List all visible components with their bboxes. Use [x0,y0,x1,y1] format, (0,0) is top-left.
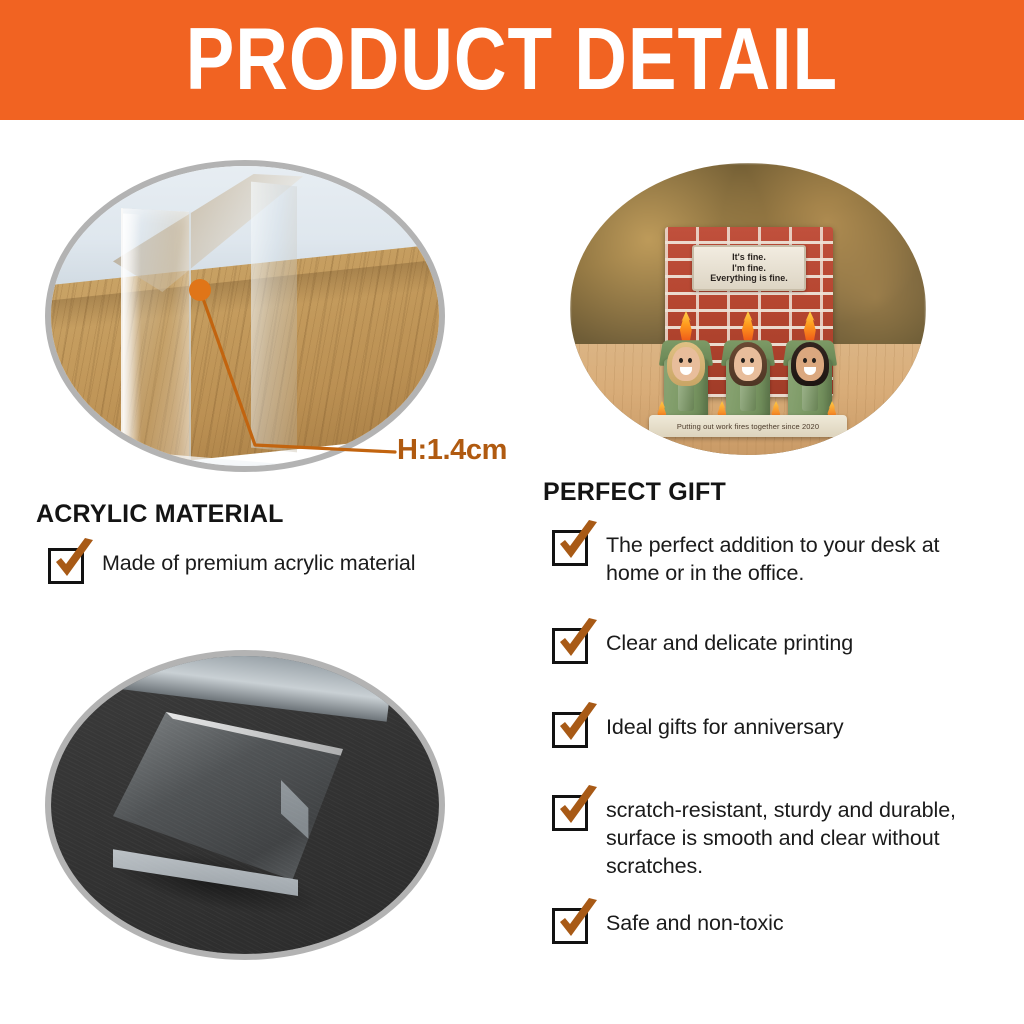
checkmark-icon [553,898,601,946]
sign-line-2: I'm fine. [732,263,766,274]
checkmark-icon [553,785,601,833]
sign-line-1: It's fine. [732,252,766,263]
wall-sign: It's fine. I'm fine. Everything is fine. [692,245,806,291]
character-eye-right [812,358,816,363]
feature-label: Made of premium acrylic material [102,550,415,578]
callout-dot [189,279,211,301]
checkbox-checked[interactable] [48,548,84,584]
feature-item: Clear and delicate printing [552,628,992,664]
checkbox-checked[interactable] [552,712,588,748]
checkbox-checked[interactable] [552,628,588,664]
feature-label: scratch-resistant, sturdy and durable, s… [606,797,1002,881]
feature-item: The perfect addition to your desk at hom… [552,530,992,588]
product-base: Putting out work fires together since 20… [649,415,847,437]
feature-label: Safe and non-toxic [606,910,784,938]
product-photo: It's fine. I'm fine. Everything is fine. [570,163,926,455]
feature-item: Safe and non-toxic [552,908,992,944]
character-eye-left [679,358,683,363]
checkmark-icon [553,618,601,666]
feature-label: Clear and delicate printing [606,630,853,658]
character-head [672,347,700,381]
trash-bin-2 [723,325,773,421]
feature-item: Made of premium acrylic material [48,548,518,584]
checkmark-icon [49,538,97,586]
checkbox-checked[interactable] [552,530,588,566]
section-heading-acrylic-material: ACRYLIC MATERIAL [36,500,284,529]
feature-label: The perfect addition to your desk at hom… [606,532,992,588]
character-head [796,347,824,381]
character-eye-right [688,358,692,363]
trash-bin-3 [785,325,835,421]
section-heading-perfect-gift: PERFECT GIFT [543,478,726,507]
base-caption: Putting out work fires together since 20… [677,422,819,431]
character-eye-right [750,358,754,363]
callout-leader-line [200,290,395,452]
feature-item: scratch-resistant, sturdy and durable, s… [552,795,1002,881]
acrylic-block-photo [45,650,445,960]
product-figure: It's fine. I'm fine. Everything is fine. [641,221,855,437]
header-banner: PRODUCT DETAIL [0,0,1024,120]
sign-line-3: Everything is fine. [710,273,788,284]
page-title: PRODUCT DETAIL [186,16,838,104]
feature-item: Ideal gifts for anniversary [552,712,992,748]
dimension-callout [180,270,420,470]
checkmark-icon [553,520,601,568]
checkbox-checked[interactable] [552,795,588,831]
character-eye-left [803,358,807,363]
acrylic-highlight [123,214,141,465]
dimension-label: H:1.4cm [397,434,507,467]
feature-label: Ideal gifts for anniversary [606,714,844,742]
character-eye-left [741,358,745,363]
trash-bin-1 [661,325,711,421]
checkmark-icon [553,702,601,750]
checkbox-checked[interactable] [552,908,588,944]
character-head [734,347,762,381]
